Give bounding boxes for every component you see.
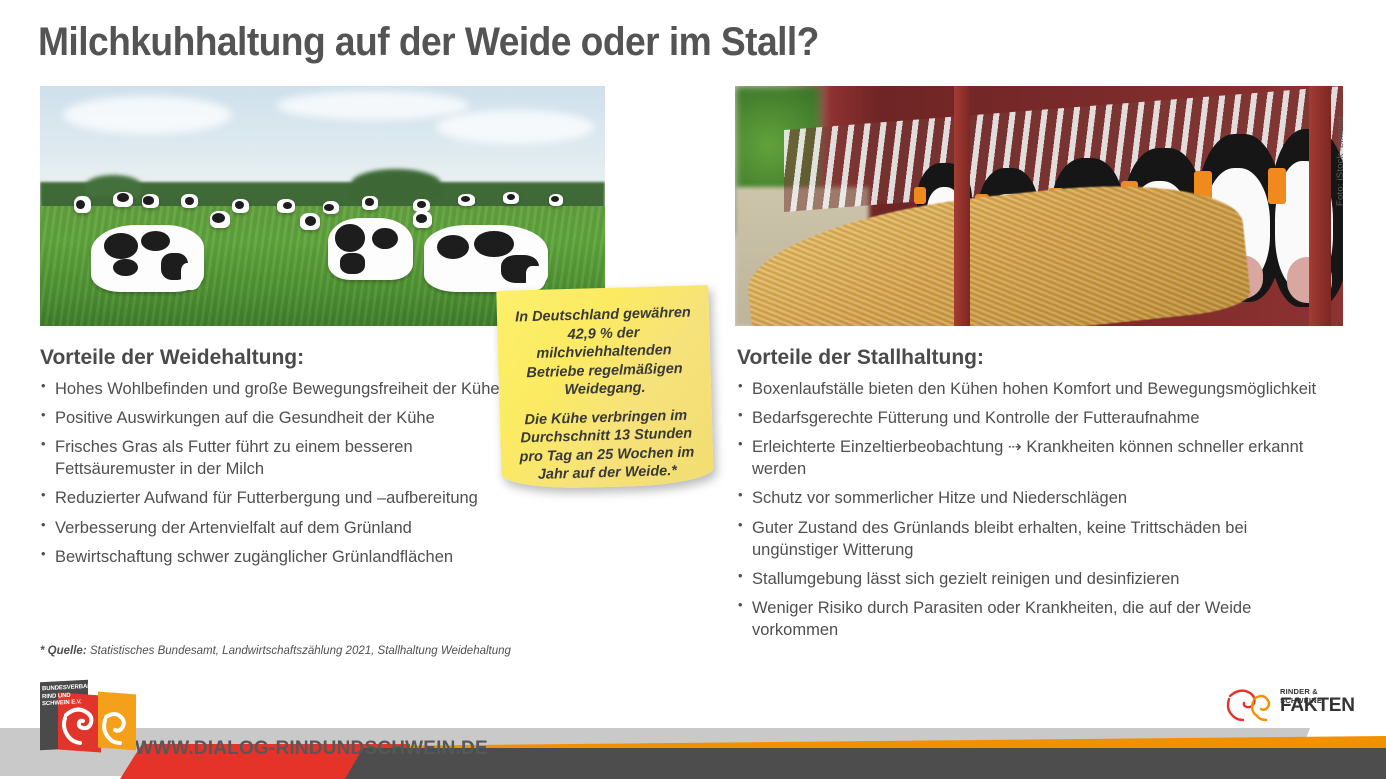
cow-distant <box>458 194 475 206</box>
cow-distant <box>362 196 378 209</box>
cow-distant <box>142 194 159 208</box>
cow-distant <box>181 194 198 208</box>
list-item: Bedarfsgerechte Fütterung und Kontrolle … <box>737 407 1337 429</box>
barn-post <box>1309 86 1331 326</box>
cow-distant <box>549 194 564 206</box>
note-paragraph-2: Die Kühe verbringen im Durchschnitt 13 S… <box>510 406 704 486</box>
cow-foreground <box>328 218 413 280</box>
list-item: Verbesserung der Artenvielfalt auf dem G… <box>40 517 502 539</box>
cow-distant <box>74 196 91 213</box>
sticky-note-callout: In Deutschland gewähren 42,9 % der milch… <box>496 285 713 490</box>
pasture-column-heading: Vorteile der Weidehaltung: <box>40 346 495 370</box>
cloud-icon <box>277 91 469 120</box>
logo-line-2: RIND UND SCHWEIN E.V. <box>42 691 92 709</box>
cow-distant <box>210 211 230 228</box>
footer-band-dark <box>345 748 1386 779</box>
cow-distant <box>323 201 340 214</box>
cloud-icon <box>63 96 233 134</box>
list-item: Hohes Wohlbefinden und große Bewegungsfr… <box>40 378 502 400</box>
cloud-icon <box>436 110 594 144</box>
page-title: Milchkuhhaltung auf der Weide oder im St… <box>38 20 819 65</box>
list-item: Positive Auswirkungen auf die Gesundheit… <box>40 407 502 429</box>
cow-in-barn <box>1270 129 1343 307</box>
cow-distant <box>413 211 432 228</box>
footer-website-url[interactable]: WWW.DIALOG-RINDUNDSCHWEIN.DE <box>135 738 488 760</box>
list-item: Frisches Gras als Futter führt zu einem … <box>40 436 502 480</box>
cow-distant <box>232 199 249 213</box>
barn-column-heading: Vorteile der Stallhaltung: <box>737 346 1237 370</box>
list-item: Erleichterte Einzeltierbeobachtung ⇢ Kra… <box>737 436 1337 480</box>
fakten-logo[interactable]: RINDER & SCHWEINE FAKTEN <box>1222 682 1362 724</box>
source-text: Statistisches Bundesamt, Landwirtschafts… <box>90 645 511 657</box>
fakten-logo-line-2: FAKTEN <box>1280 695 1355 717</box>
source-label: * Quelle: <box>40 645 87 657</box>
list-item: Bewirtschaftung schwer zugänglicher Grün… <box>40 546 502 568</box>
cow-foreground <box>91 225 204 292</box>
photo-credit-right: Foto: iStock_pixinoo <box>1335 116 1343 206</box>
source-footnote: * Quelle: Statistisches Bundesamt, Landw… <box>40 645 511 657</box>
barn-photo: Foto: iStock_pixinoo <box>735 86 1343 326</box>
note-paragraph-1: In Deutschland gewähren 42,9 % der milch… <box>507 303 702 401</box>
list-item: Weniger Risiko durch Parasiten oder Kran… <box>737 597 1337 641</box>
barn-post <box>954 86 970 326</box>
bundesverband-logo[interactable]: BUNDESVERBAND RIND UND SCHWEIN E.V. <box>40 681 142 753</box>
cow-foreground <box>424 225 548 292</box>
logo-text-block: BUNDESVERBAND RIND UND SCHWEIN E.V. <box>42 684 92 709</box>
barn-benefits-list: Boxenlaufställe bieten den Kühen hohen K… <box>737 378 1337 648</box>
pasture-benefits-list: Hohes Wohlbefinden und große Bewegungsfr… <box>40 378 502 575</box>
list-item: Schutz vor sommerlicher Hitze und Nieder… <box>737 487 1337 509</box>
cow-distant <box>503 192 519 204</box>
cow-distant <box>277 199 295 213</box>
cattle-pig-outline-icon <box>1222 682 1278 722</box>
cow-distant <box>300 213 320 230</box>
cow-distant <box>113 192 133 208</box>
list-item: Stallumgebung lässt sich gezielt reinige… <box>737 568 1337 590</box>
list-item: Reduzierter Aufwand für Futterbergung un… <box>40 487 502 509</box>
list-item: Guter Zustand des Grünlands bleibt erhal… <box>737 517 1337 561</box>
list-item: Boxenlaufställe bieten den Kühen hohen K… <box>737 378 1337 400</box>
